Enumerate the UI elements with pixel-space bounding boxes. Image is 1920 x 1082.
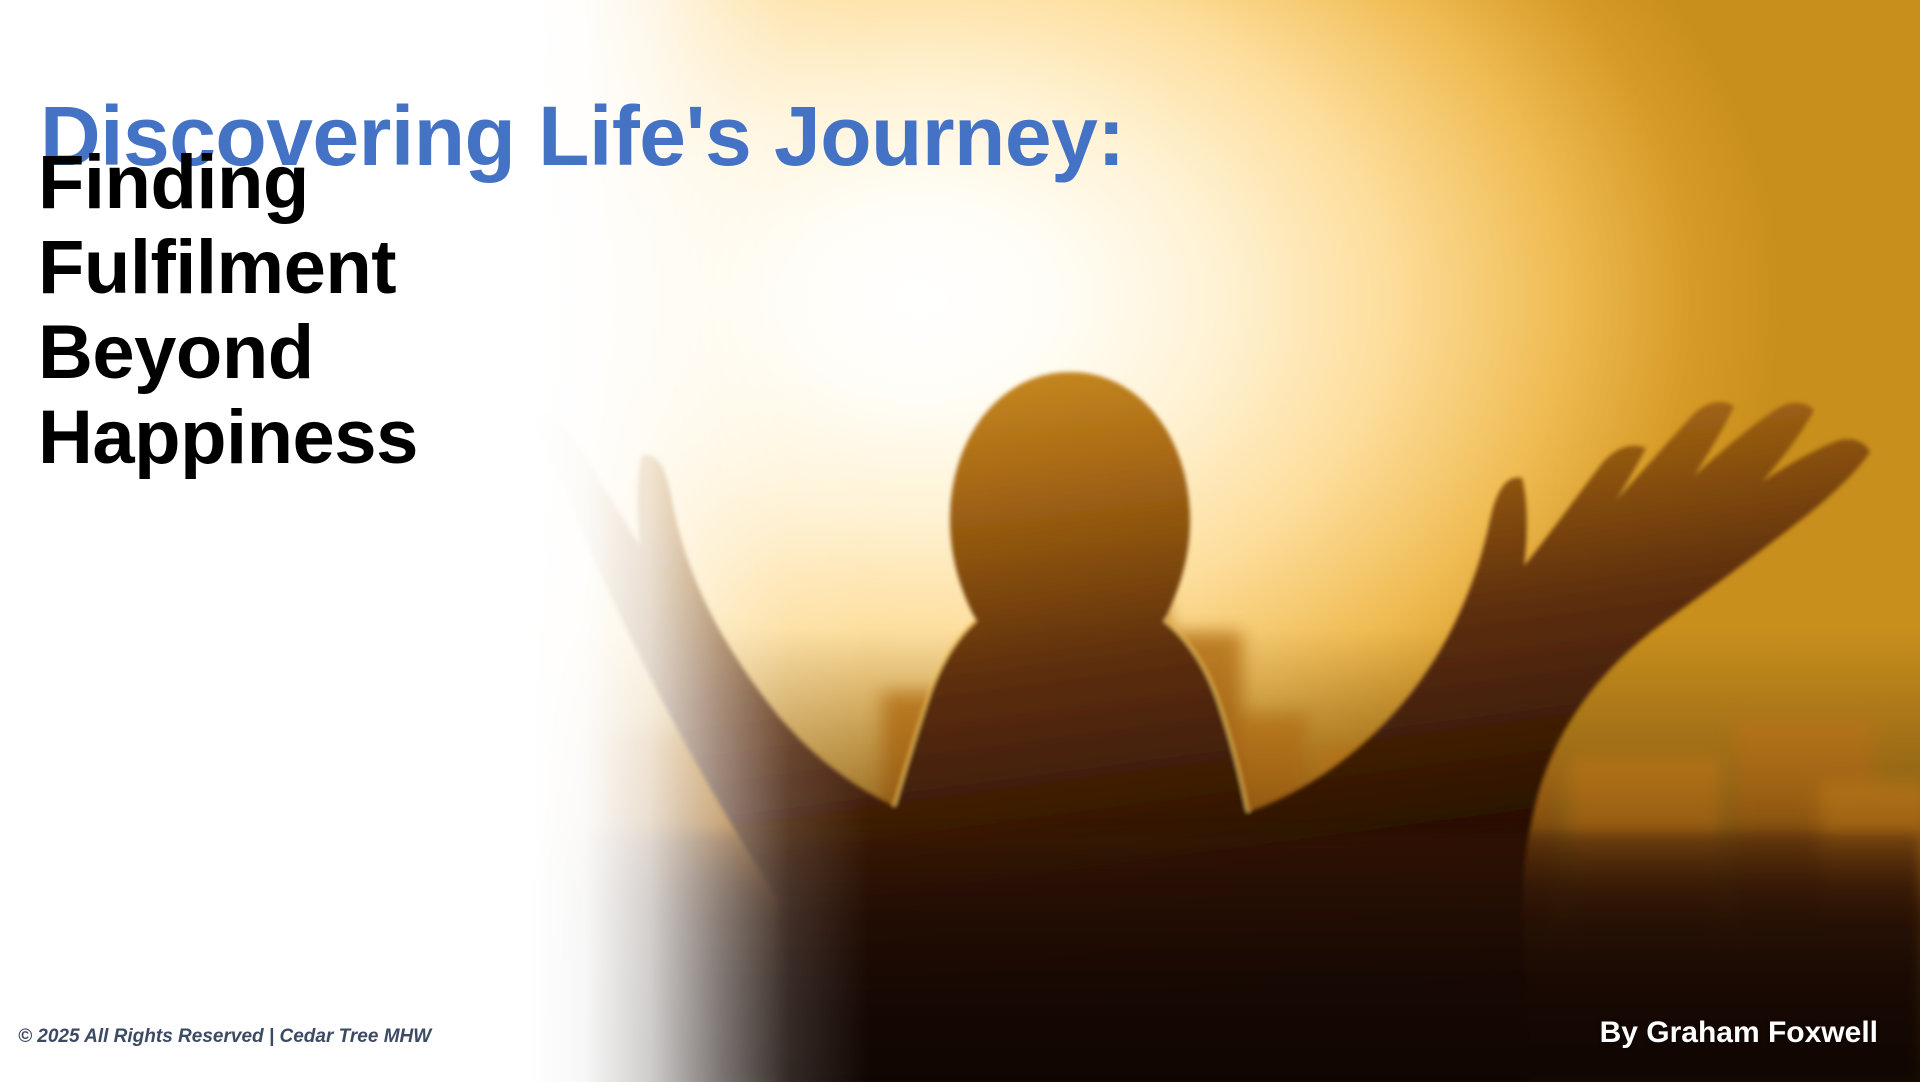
page-subtitle: Finding Fulfilment Beyond Happiness [38,140,508,480]
title-slide: Photo by marten Nathan Dumlao- on Unspla… [0,0,1920,1082]
subtitle-line-4: Happiness [38,395,508,480]
subtitle-line-1: Finding [38,140,508,225]
subtitle-line-3: Beyond [38,310,508,395]
subtitle-line-2: Fulfilment [38,225,508,310]
copyright-notice: © 2025 All Rights Reserved | Cedar Tree … [18,1026,431,1048]
author-byline: By Graham Foxwell [1600,1016,1878,1050]
